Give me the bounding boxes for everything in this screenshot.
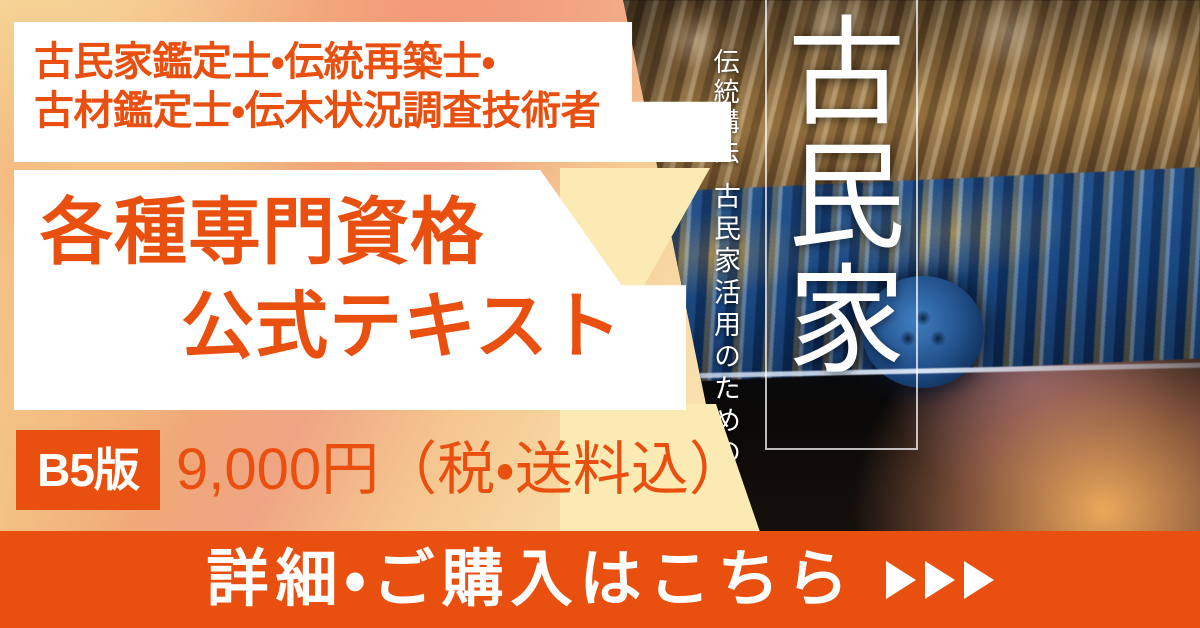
qualifications-panel: 古民家鑑定士・伝統再築士・ 古材鑑定士・伝木状況調査技術者 [14,22,731,162]
qualifications-line-1: 古民家鑑定士・伝統再築士・ [34,38,734,87]
headline-line-1: 各種専門資格 [40,196,484,269]
cta-button[interactable]: 詳細・ご購入はこちら [0,531,1200,628]
cta-label: 詳細・ご購入はこちら [206,549,855,611]
play-arrow-icon [964,561,994,599]
size-badge: B5版 [16,430,160,510]
cta-arrows [886,561,994,599]
play-arrow-icon [925,561,955,599]
promo-banner: 伝統構法 古民家活用のための調査と再生の 古民家 古民家鑑定士・伝統再築士・ 古… [0,0,1200,628]
headline-line-2: 公式テキスト [181,290,623,363]
cover-title-text: 古民家 [780,10,904,382]
qualifications-line-2: 古材鑑定士・伝木状況調査技術者 [34,87,734,136]
play-arrow-icon [886,561,916,599]
price-text: 9,000円（税・送料込） [176,434,747,506]
qualifications-text: 古民家鑑定士・伝統再築士・ 古材鑑定士・伝木状況調査技術者 [34,38,734,136]
